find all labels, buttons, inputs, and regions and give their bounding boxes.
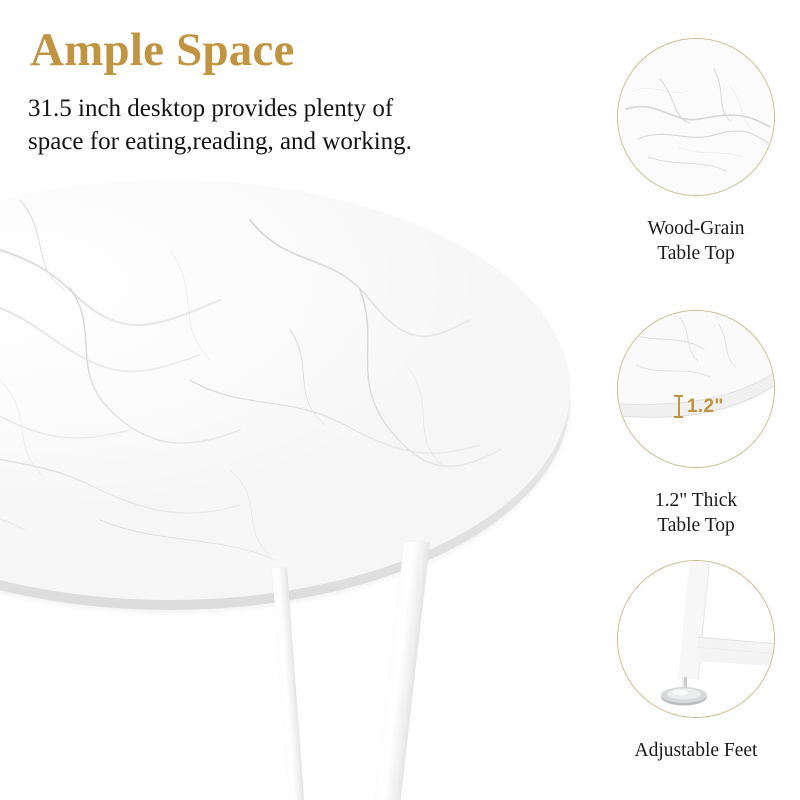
description-line-2: space for eating,reading, and working. bbox=[28, 125, 518, 158]
callout-label-wood-grain: Wood-Grain Table Top bbox=[596, 216, 796, 267]
table-top-surface bbox=[0, 180, 570, 600]
infographic-page: Ample Space 31.5 inch desktop provides p… bbox=[0, 0, 800, 800]
callout-image-adjustable-feet bbox=[617, 560, 775, 718]
hero-product-image bbox=[0, 180, 600, 800]
callout-label-line: Table Top bbox=[596, 241, 796, 266]
callout-adjustable-feet: Adjustable Feet bbox=[596, 560, 796, 763]
marble-top-icon bbox=[618, 39, 775, 196]
callout-label-line: Table Top bbox=[596, 513, 796, 538]
page-title: Ample Space bbox=[30, 26, 295, 75]
thickness-dimension-annotation: 1.2" bbox=[674, 395, 724, 418]
dimension-value: 1.2" bbox=[687, 396, 724, 418]
callout-label-thickness: 1.2" Thick Table Top bbox=[596, 488, 796, 539]
table-edge-thickness-icon bbox=[618, 311, 775, 468]
description-line-1: 31.5 inch desktop provides plenty of bbox=[28, 92, 518, 125]
table-leg-foot-icon bbox=[618, 561, 775, 718]
table-leg-left bbox=[272, 568, 304, 800]
callout-label-adjustable-feet: Adjustable Feet bbox=[596, 738, 796, 763]
callout-label-line: 1.2" Thick bbox=[596, 488, 796, 513]
callout-image-wood-grain bbox=[617, 38, 775, 196]
callout-wood-grain-table-top: Wood-Grain Table Top bbox=[596, 38, 796, 267]
dimension-ibeam-icon bbox=[674, 395, 683, 418]
callout-label-line: Wood-Grain bbox=[596, 216, 796, 241]
callout-thick-table-top: 1.2" 1.2" Thick Table Top bbox=[596, 310, 796, 539]
callout-label-line: Adjustable Feet bbox=[596, 738, 796, 763]
marble-veining-icon bbox=[0, 180, 570, 600]
callout-image-thickness: 1.2" bbox=[617, 310, 775, 468]
description-text: 31.5 inch desktop provides plenty of spa… bbox=[28, 92, 518, 158]
